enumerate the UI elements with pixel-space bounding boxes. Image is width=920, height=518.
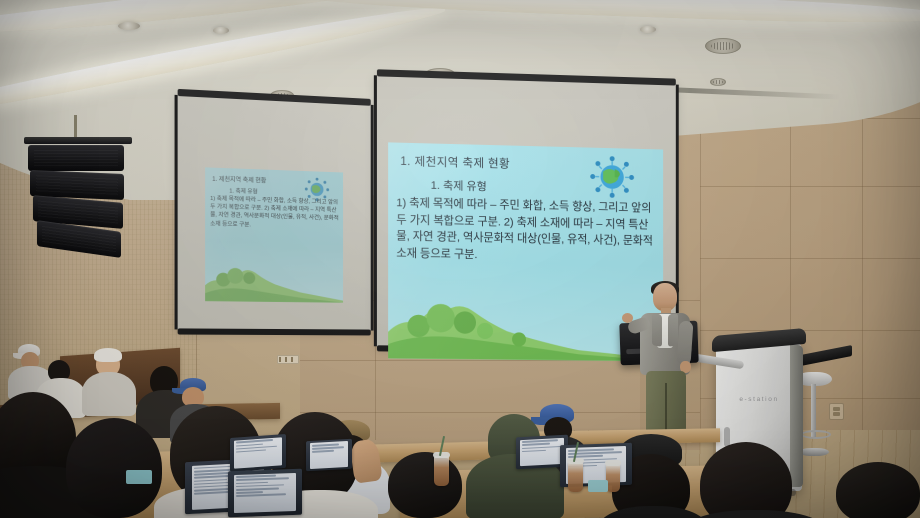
- slide-body-right: 1) 축제 목적에 따라 – 주민 화합, 소득 향상, 그리고 앞의 두 가지…: [396, 195, 657, 266]
- small-item: [126, 470, 152, 484]
- wall-seam: [700, 258, 920, 259]
- iced-drink-cup: [434, 456, 449, 486]
- laptop[interactable]: [306, 440, 352, 472]
- iced-drink-cup: [606, 464, 620, 492]
- laptop[interactable]: [228, 470, 302, 518]
- slide-left: 1. 제천지역 축제 현황 1. 축제 유형 1) 축제 목적에 따라 – 주민…: [205, 167, 343, 302]
- wall-seam: [700, 330, 920, 331]
- podium-brand-label: e-station: [728, 396, 790, 403]
- small-item: [588, 480, 608, 492]
- downlight-icon: [213, 27, 229, 34]
- lecture-hall-photo: 1. 제천지역 축제 현황 1. 축제 유형 1) 축제 목적에 따라 – 주민…: [0, 0, 920, 518]
- presenter-head: [653, 283, 677, 311]
- speaker-cabinet: [28, 145, 124, 171]
- wall-control-panel[interactable]: [277, 355, 299, 364]
- globe-with-people-icon: [585, 151, 640, 202]
- speaker-array: [24, 137, 132, 263]
- projection-screen-right: 1. 제천지역 축제 현황 1. 축제 유형 1) 축제 목적에 따라 – 주민…: [377, 75, 676, 349]
- presenter: [636, 283, 698, 433]
- slide-subtitle-right: 1. 축제 유형: [431, 177, 487, 194]
- iced-drink-cup: [568, 462, 583, 492]
- laptop[interactable]: [230, 436, 286, 472]
- downlight-icon: [640, 26, 656, 33]
- ceiling-vent-icon: [710, 78, 726, 86]
- downlight-icon: [118, 22, 140, 30]
- slide-title-left: 1. 제천지역 축제 현황: [212, 174, 266, 185]
- slide-title-right: 1. 제천지역 축제 현황: [400, 153, 510, 172]
- slide-body-left: 1) 축제 목적에 따라 – 주민 화합, 소득 향상, 그리고 앞의 두 가지…: [210, 195, 340, 232]
- cup-lid: [605, 460, 621, 466]
- slide-subtitle-left: 1. 축제 유형: [229, 186, 257, 195]
- slide-hills-graphic: [205, 256, 343, 303]
- wall-outlet-icon: [829, 403, 844, 420]
- ceiling-vent-icon: [705, 38, 741, 54]
- projection-screen-left: 1. 제천지역 축제 현황 1. 축제 유형 1) 축제 목적에 따라 – 주민…: [178, 95, 371, 331]
